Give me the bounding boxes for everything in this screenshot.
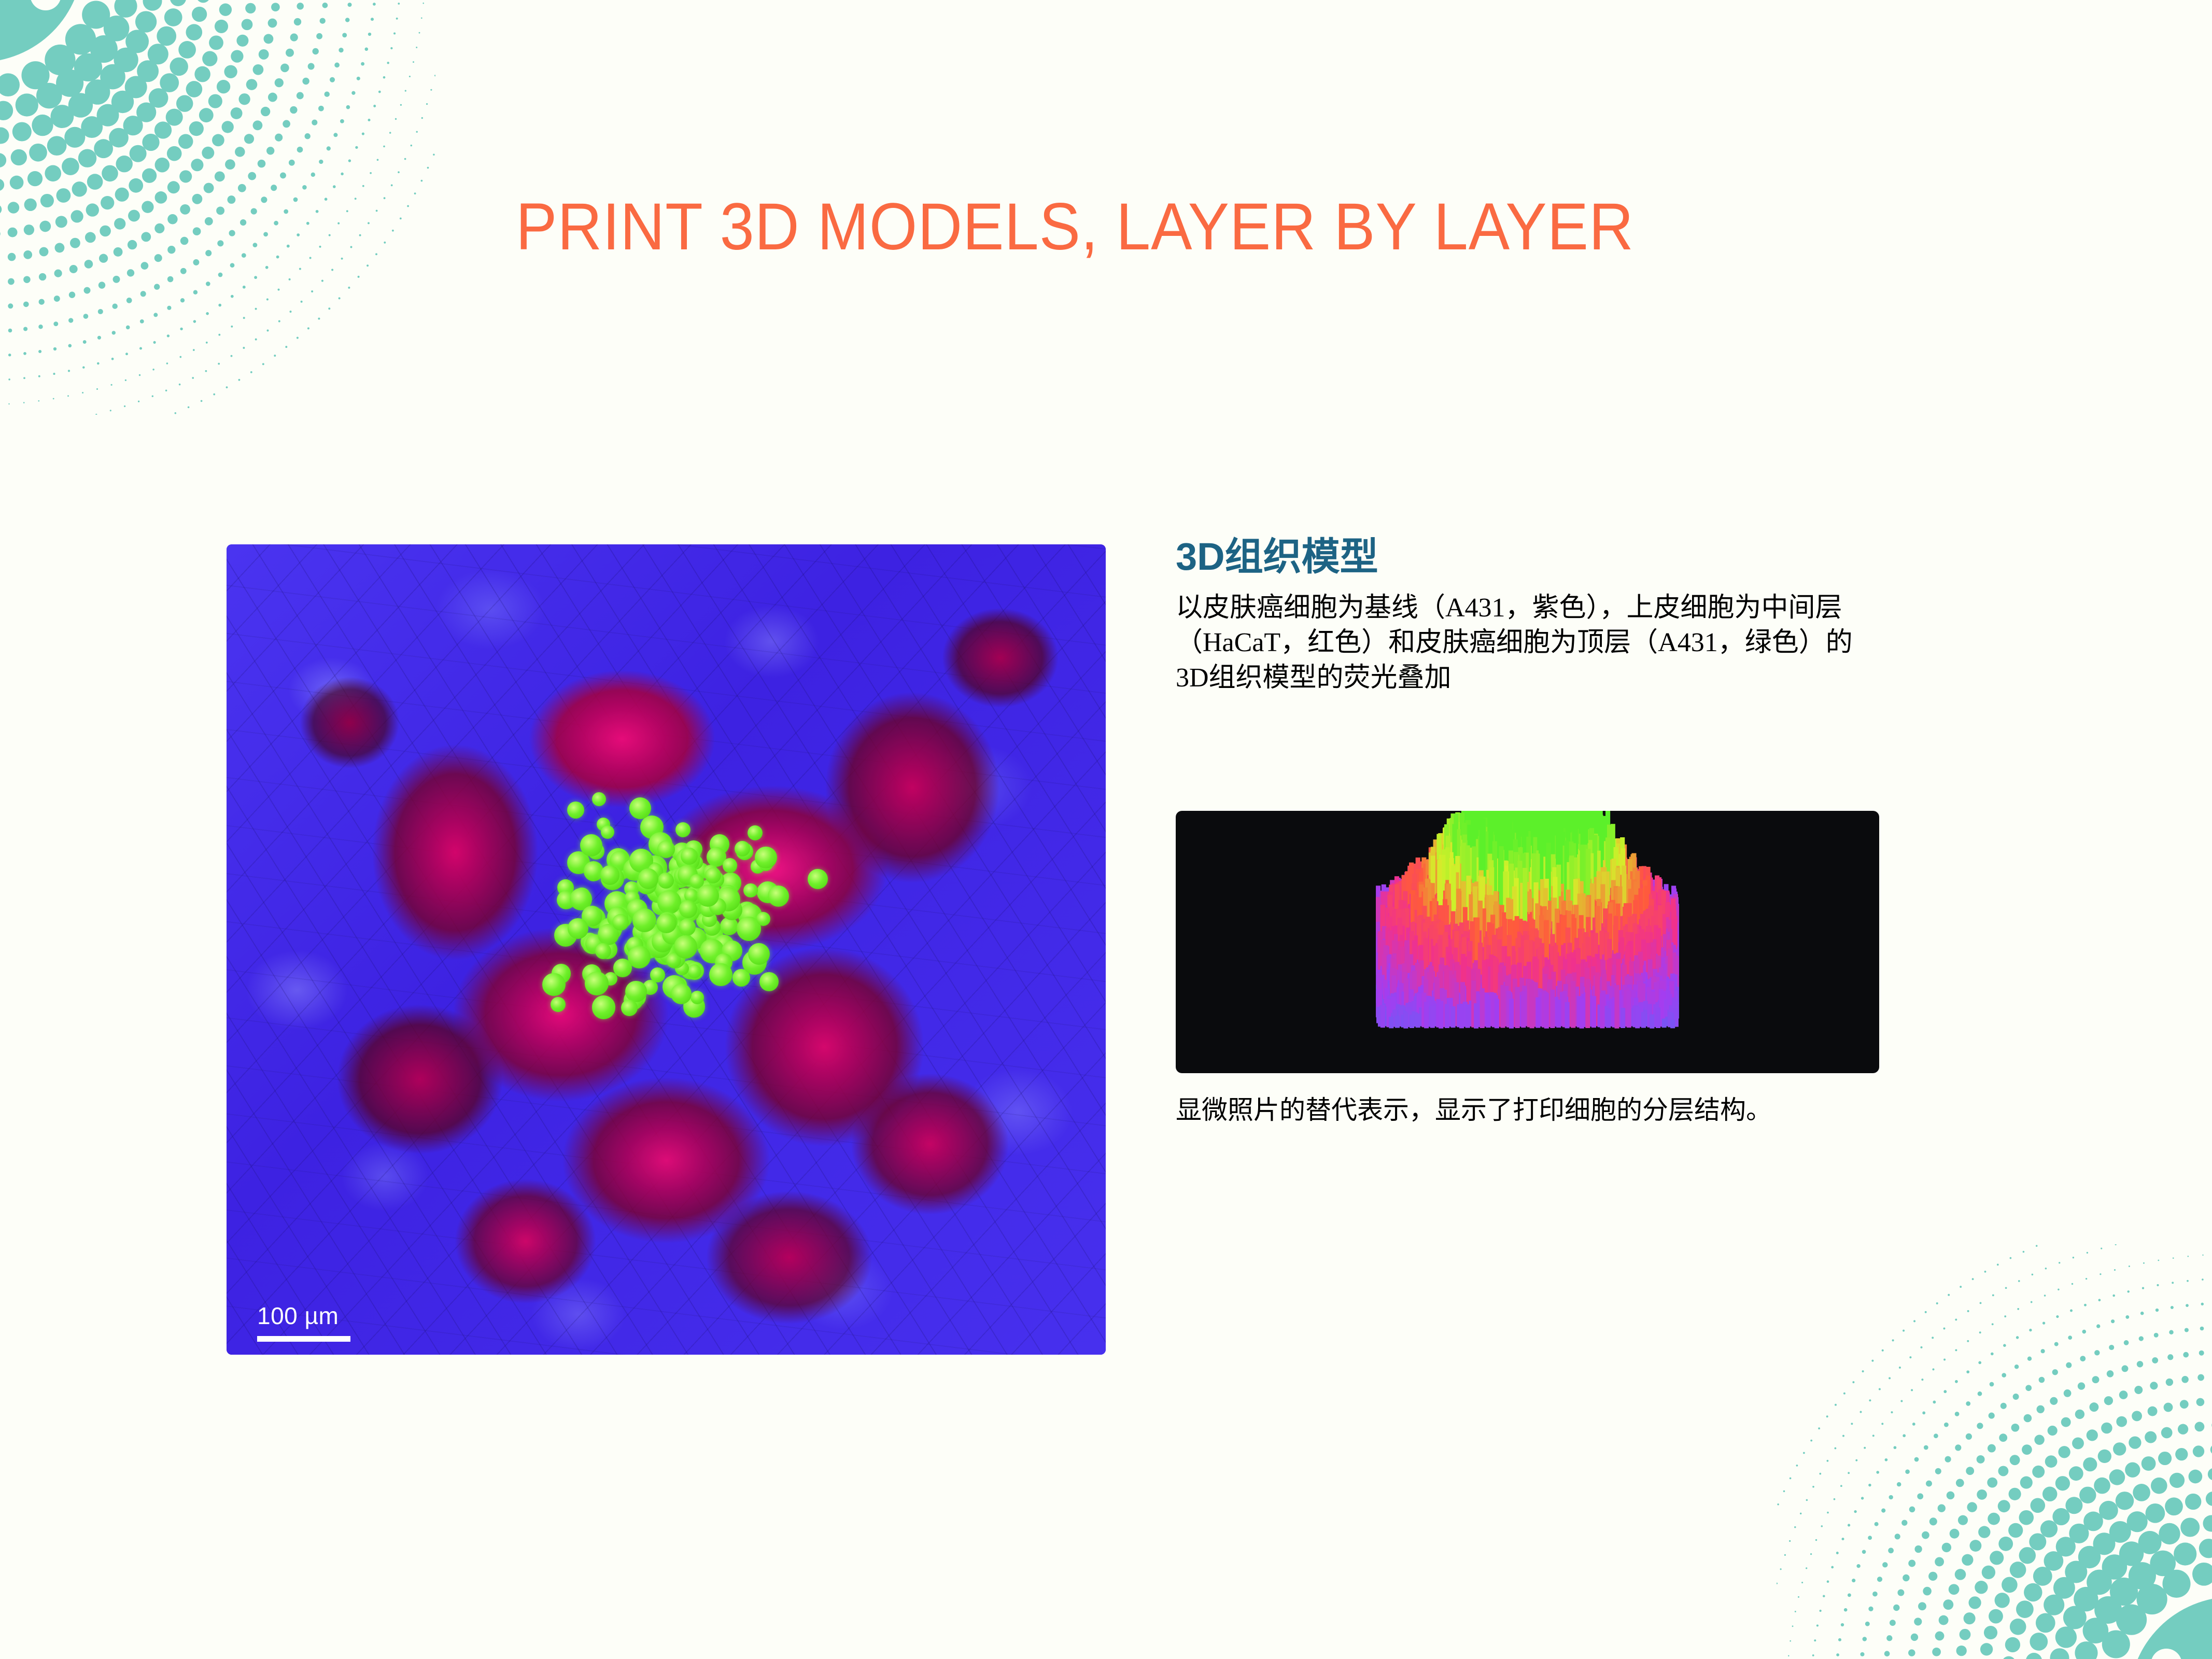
slide-canvas: PRINT 3D MODELS, LAYER BY LAYER 100 µm 3… bbox=[0, 0, 2212, 1659]
nucleus-dot bbox=[632, 908, 656, 932]
nucleus-dot bbox=[601, 825, 614, 839]
nucleus-dot bbox=[592, 995, 616, 1019]
nucleus-dot bbox=[709, 963, 732, 986]
surface-plot-panel bbox=[1176, 811, 1879, 1073]
fluorescence-micrograph: 100 µm bbox=[227, 544, 1106, 1355]
halftone-dots-decoration-bottom-right bbox=[1777, 1244, 2212, 1659]
nucleus-dot bbox=[679, 900, 697, 918]
nucleus-dot bbox=[675, 822, 691, 837]
nucleus-dot bbox=[756, 912, 770, 926]
scale-bar-label: 100 µm bbox=[257, 1304, 350, 1328]
nucleus-dot bbox=[735, 841, 750, 856]
nucleus-dot bbox=[580, 834, 602, 856]
nucleus-dot bbox=[551, 997, 566, 1012]
halftone-dots-decoration-top-left bbox=[0, 0, 435, 415]
nucleus-dot bbox=[768, 885, 789, 907]
nucleus-dot bbox=[638, 868, 659, 889]
nucleus-dot bbox=[600, 865, 619, 884]
scale-bar: 100 µm bbox=[257, 1304, 350, 1342]
nucleus-dot bbox=[658, 873, 674, 889]
nucleus-dot bbox=[567, 802, 584, 819]
description-column: 3D组织模型 以皮肤癌细胞为基线（A431，紫色），上皮细胞为中间层（HaCaT… bbox=[1176, 537, 1881, 695]
nucleus-dot bbox=[628, 946, 651, 968]
scale-bar-line bbox=[257, 1336, 350, 1342]
section-heading: 3D组织模型 bbox=[1176, 537, 1881, 577]
micrograph-a431-top-nuclei bbox=[227, 544, 1106, 1355]
nucleus-dot bbox=[657, 890, 681, 914]
nucleus-dot bbox=[656, 913, 677, 934]
nucleus-dot bbox=[568, 918, 588, 939]
nucleus-dot bbox=[612, 914, 629, 931]
nucleus-dot bbox=[629, 797, 651, 819]
nucleus-dot bbox=[697, 884, 719, 907]
nucleus-dot bbox=[691, 991, 704, 1004]
nucleus-dot bbox=[723, 858, 738, 873]
nucleus-dot bbox=[679, 919, 696, 936]
surface-plot-caption: 显微照片的替代表示，显示了打印细胞的分层结构。 bbox=[1176, 1093, 1844, 1127]
nucleus-dot bbox=[671, 983, 692, 1005]
nucleus-dot bbox=[705, 867, 721, 883]
nucleus-dot bbox=[585, 972, 609, 995]
nucleus-dot bbox=[657, 840, 675, 858]
nucleus-dot bbox=[755, 847, 777, 869]
nucleus-dot bbox=[748, 943, 770, 965]
nucleus-dot bbox=[621, 1000, 638, 1016]
nucleus-dot bbox=[542, 973, 566, 996]
nucleus-dot bbox=[743, 883, 758, 898]
section-body-text: 以皮肤癌细胞为基线（A431，紫色），上皮细胞为中间层（HaCaT，红色）和皮肤… bbox=[1176, 591, 1873, 696]
nucleus-dot bbox=[592, 792, 606, 806]
page-title: PRINT 3D MODELS, LAYER BY LAYER bbox=[516, 194, 1673, 260]
nucleus-dot bbox=[759, 972, 779, 991]
nucleus-dot bbox=[674, 935, 697, 959]
nucleus-dot bbox=[748, 825, 763, 840]
layered-cell-surface-plot bbox=[1176, 811, 1879, 1073]
nucleus-dot bbox=[808, 869, 828, 889]
